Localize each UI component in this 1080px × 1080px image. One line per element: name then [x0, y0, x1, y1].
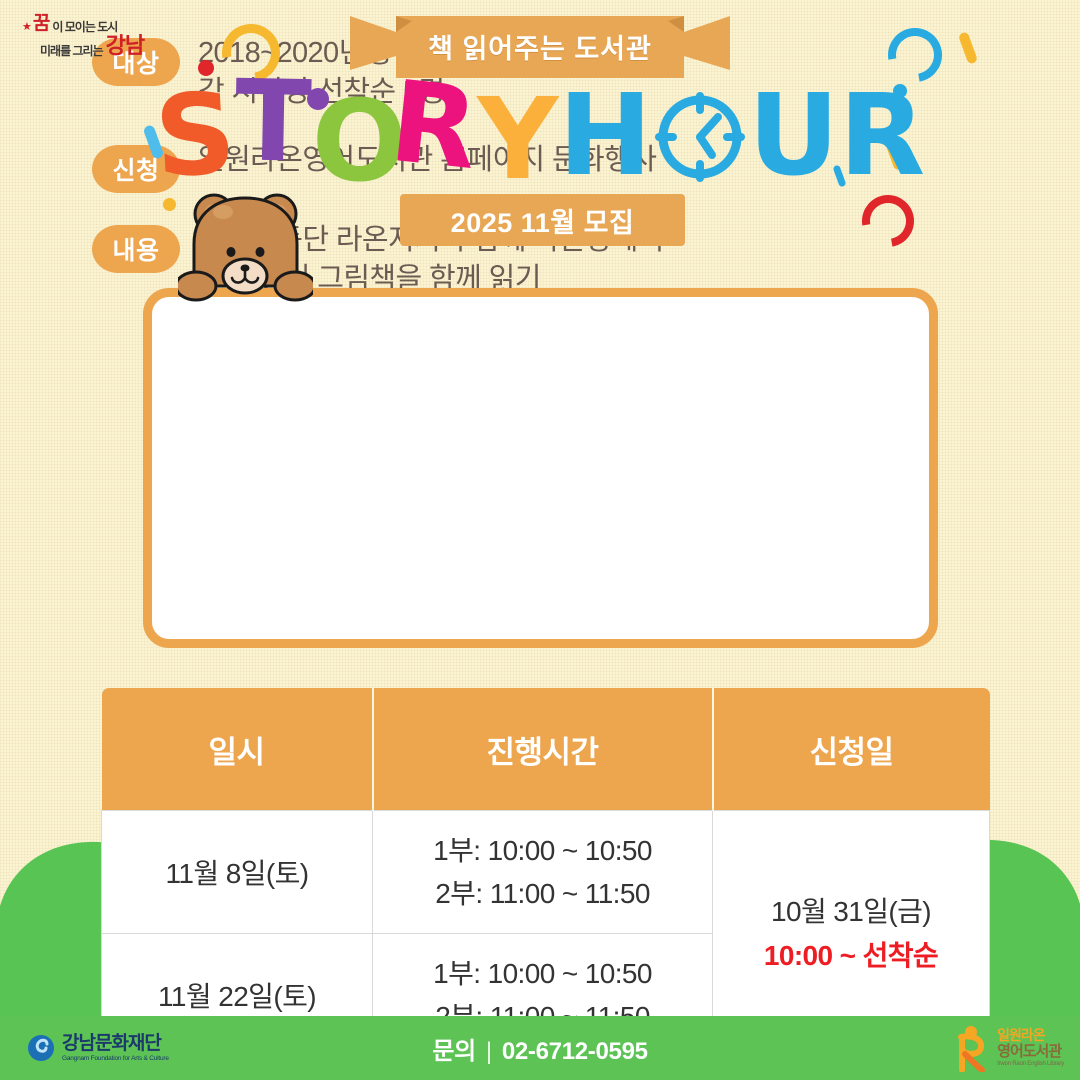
contact-phone[interactable]: 02-6712-0595 [502, 1038, 648, 1065]
irwon-raon-korean-line2: 영어도서관 [997, 1044, 1064, 1061]
table-header-row: 일시 진행시간 신청일 [102, 688, 990, 811]
raon-r-mark-icon [949, 1024, 991, 1072]
table-header-apply: 신청일 [713, 688, 990, 811]
schedule-table-head: 일시 진행시간 신청일 [102, 688, 990, 811]
apply-note: 10:00 ~ 선착순 [714, 934, 988, 977]
contact-separator: | [486, 1038, 492, 1065]
footer-bar: 강남문화재단 Gangnam Foundation for Arts & Cul… [0, 1016, 1080, 1080]
clock-icon [654, 91, 746, 188]
brand-logo-line2-keyword: 강남 [106, 35, 144, 57]
poster-root: ★ 꿈 이 모이는 도시 미래를 그리는 강남 책 읽어주는 도서관 S T O… [0, 0, 1080, 1080]
title-letter-h: H [558, 80, 652, 192]
title-letter-y: Y [477, 84, 558, 196]
page-title: S T O R Y H U R [0, 78, 1080, 193]
teddy-bear-mascot-icon [178, 186, 313, 304]
title-letter-t: T [234, 65, 312, 178]
irwon-raon-korean-line1: 일원라온 [997, 1028, 1064, 1043]
table-row: 11월 8일(토) 1부: 10:00 ~ 10:50 2부: 11:00 ~ … [102, 811, 990, 934]
title-letter-s: S [152, 77, 238, 193]
table-cell-date-1: 11월 8일(토) [102, 811, 373, 934]
recruitment-period-text: 2025 11월 모집 [451, 201, 635, 240]
session-1-row-2: 1부: 10:00 ~ 10:50 [374, 952, 711, 995]
contact-info: 문의|02-6712-0595 [0, 1031, 1080, 1066]
apply-date: 10월 31일(금) [714, 890, 988, 933]
title-letter-u: U [748, 80, 839, 192]
session-1-row-1: 1부: 10:00 ~ 10:50 [374, 829, 711, 872]
brand-logo-line1-text: 이 모이는 도시 [52, 21, 117, 33]
table-cell-times-1: 1부: 10:00 ~ 10:50 2부: 11:00 ~ 11:50 [373, 811, 713, 934]
irwon-raon-library-logo: 일원라온 영어도서관 Irwon Raon English Library [949, 1024, 1064, 1072]
recruitment-period-badge: 2025 11월 모집 [400, 194, 685, 246]
table-header-date: 일시 [102, 688, 373, 811]
brand-logo-line2-text: 미래를 그리는 [40, 45, 103, 57]
contact-label: 문의 [432, 1038, 476, 1065]
irwon-raon-english: Irwon Raon English Library [997, 1061, 1064, 1068]
schedule-table: 일시 진행시간 신청일 11월 8일(토) 1부: 10:00 ~ 10:50 … [101, 688, 990, 1057]
gangnam-brand-logo: ★ 꿈 이 모이는 도시 미래를 그리는 강남 [22, 14, 144, 57]
info-box [143, 288, 938, 648]
brand-logo-line1-keyword: 꿈 [33, 14, 49, 33]
star-icon: ★ [22, 22, 32, 33]
info-pill-content: 내용 [92, 225, 180, 273]
table-header-time: 진행시간 [373, 688, 713, 811]
title-letter-r2: R [839, 80, 925, 192]
session-2-row-1: 2부: 11:00 ~ 11:50 [374, 872, 711, 915]
schedule-table-wrapper: 일시 진행시간 신청일 11월 8일(토) 1부: 10:00 ~ 10:50 … [101, 688, 979, 1057]
title-letter-r1: R [385, 65, 482, 185]
irwon-raon-text: 일원라온 영어도서관 Irwon Raon English Library [997, 1028, 1064, 1067]
